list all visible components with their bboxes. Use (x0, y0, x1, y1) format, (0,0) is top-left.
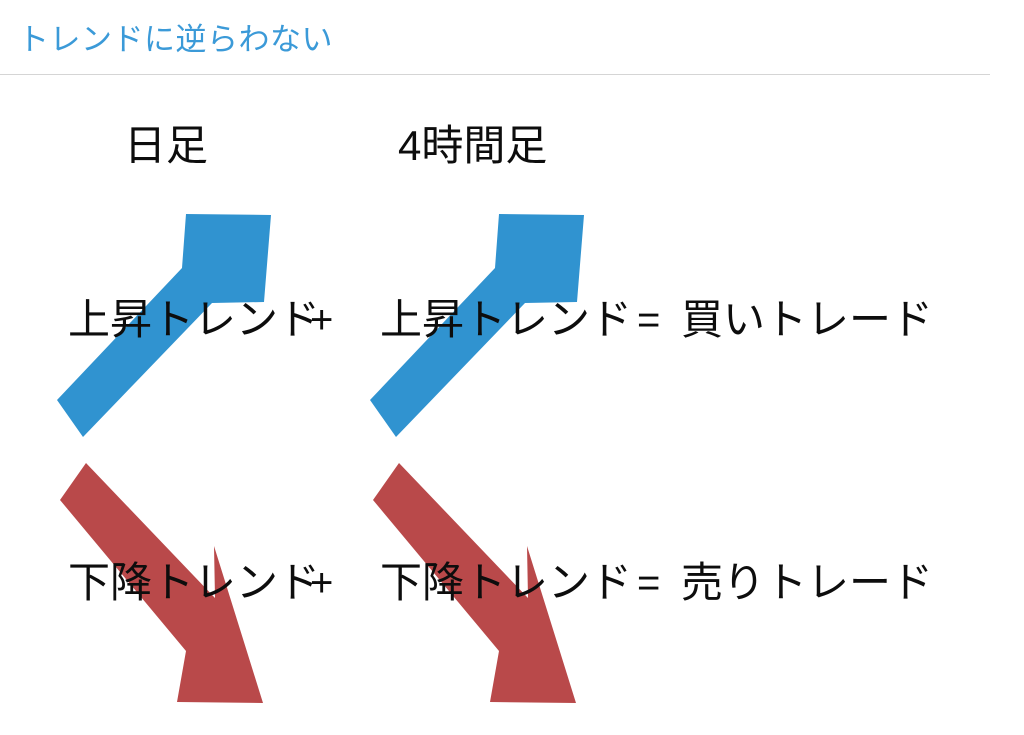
title-divider (0, 74, 990, 75)
arrow-graphics-layer (0, 0, 1024, 735)
bearish-right-label: 下降トレンド (380, 558, 632, 608)
slide-canvas: トレンドに逆らわない 日足 4時間足 上昇トレンド + 上昇トレンド = 買いト… (0, 0, 1024, 735)
bearish-left-label: 下降トレンド (68, 558, 320, 608)
bearish-plus-operator: + (310, 558, 333, 608)
bullish-equals-operator: = (637, 295, 660, 345)
bearish-result-label: 売りトレード (681, 558, 933, 608)
bearish-equals-operator: = (637, 558, 660, 608)
column-caption-daily: 日足 (124, 120, 208, 172)
column-caption-4h: 4時間足 (398, 120, 547, 172)
page-title: トレンドに逆らわない (18, 20, 333, 60)
bullish-plus-operator: + (310, 295, 333, 345)
bullish-left-label: 上昇トレンド (68, 295, 320, 345)
bullish-right-label: 上昇トレンド (380, 295, 632, 345)
bullish-result-label: 買いトレード (681, 295, 933, 345)
